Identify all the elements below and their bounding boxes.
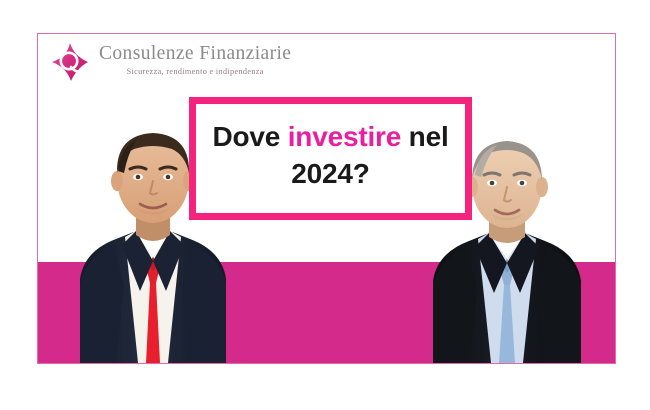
slide-frame: Dove investire nel 2024? (37, 33, 616, 364)
headline-line-2: 2024? (291, 158, 369, 189)
brand-name: Consulenze Finanziarie (99, 44, 291, 64)
brand-text: Consulenze Finanziarie Sicurezza, rendim… (93, 38, 291, 76)
slide-canvas: Dove investire nel 2024? (0, 0, 650, 410)
brand-logo: Consulenze Finanziarie Sicurezza, rendim… (47, 38, 291, 86)
headline-part-2: nel (401, 121, 448, 152)
headline-accent-word: investire (288, 121, 401, 152)
q-triangle-logo-icon (47, 40, 93, 86)
headline-text: Dove investire nel 2024? (206, 119, 454, 199)
headline-card: Dove investire nel 2024? (189, 97, 472, 220)
headline-part-1: Dove (212, 121, 287, 152)
brand-tagline: Sicurezza, rendimento e indipendenza (99, 67, 291, 76)
